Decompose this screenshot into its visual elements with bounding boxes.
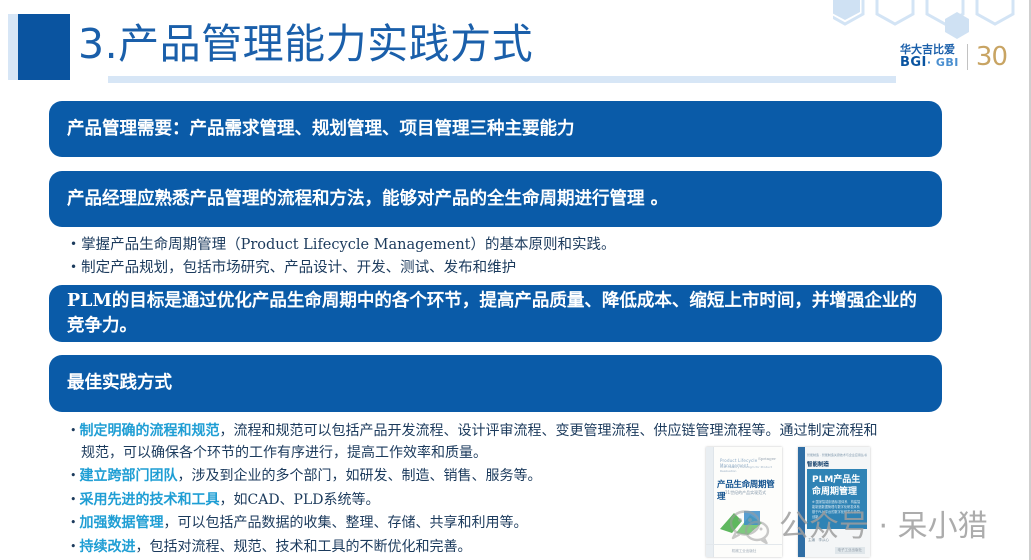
book-arrow-graphic-icon (718, 507, 770, 535)
callout-box-plm-goal: PLM的目标是通过优化产品生命周期中的各个环节，提高产品质量、降低成本、缩短上市… (49, 285, 942, 342)
brand-gbi: · GBI (927, 56, 959, 69)
book-publisher: 机械工业出版社 (732, 549, 757, 554)
callout-box-pm-process: 产品经理应熟悉产品管理的流程和方法，能够对产品的全生命周期进行管理 。 (49, 171, 942, 227)
callout-box-best-practice: 最佳实践方式 (49, 355, 942, 412)
list-item-lead: 持续改进 (80, 539, 136, 555)
list-item-lead: 加强数据管理 (80, 515, 164, 531)
list-item: 制定产品规划，包括市场研究、产品设计、开发、测试、发布和维护 (70, 256, 770, 279)
callout-box-text: 产品经理应熟悉产品管理的流程和方法，能够对产品的全生命周期进行管理 。 (67, 186, 668, 213)
book-cover-plm-cn: Springer Product Lifecycle Management 21… (706, 447, 782, 557)
list-item-lead: 建立跨部门团队 (80, 468, 178, 484)
book-blurb: ※ 国家智能制造标准体系 构建智能制造数据管理与数字化研发体系 基于PLM平台的… (812, 500, 863, 520)
anniversary-badge: 30 (976, 44, 1007, 70)
list-item-lead: 制定明确的流程和规范 (80, 423, 220, 439)
book-cover-images: Springer Product Lifecycle Management 21… (706, 447, 891, 560)
list-item: 掌握产品生命周期管理（Product Lifecycle Management）… (70, 233, 770, 256)
book-subtitle: 21世纪的产品实现范式 (725, 490, 766, 496)
slide-canvas: 3.产品管理能力实践方式 华大吉比爱 BGI· GBI 30 产品管理需要：产品… (0, 0, 1031, 560)
book-footer-band: 机械工业出版社 (706, 544, 782, 557)
callout-box-text: 最佳实践方式 (67, 370, 172, 397)
list-item-rest: ，可以包括产品数据的收集、整理、存储、共享和利用等。 (164, 515, 528, 531)
book-spine (706, 447, 714, 557)
book-title: PLM产品生命周期管理 (812, 474, 867, 498)
brand-english-name: BGI· GBI (900, 56, 959, 70)
book-series-badge: 智能制造 (807, 460, 829, 468)
callout-box-capabilities: 产品管理需要：产品需求管理、规划管理、项目管理三种主要能力 (49, 101, 942, 157)
book-english-subtitle: 21st Century Paradigm for Product Realis… (720, 465, 782, 473)
list-item-rest: ，如CAD、PLD系统等。 (220, 492, 380, 508)
brand-divider (967, 44, 968, 70)
title-accent-square (18, 14, 70, 80)
title-accent-strip (8, 14, 18, 80)
book-author: 主编 李从心 (808, 538, 829, 543)
list-item-lead: 采用先进的技术和工具 (80, 492, 220, 508)
brand-bgi: BGI (900, 55, 927, 70)
mid-bullet-list: 掌握产品生命周期管理（Product Lifecycle Management）… (70, 233, 770, 279)
list-item-rest: ，涉及到企业的多个部门，如研发、制造、销售、服务等。 (178, 468, 542, 484)
page-title: 3.产品管理能力实践方式 (78, 16, 533, 72)
list-item-rest: ，包括对流程、规范、技术和工具的不断优化和完善。 (136, 539, 472, 555)
book-publisher: 电子工业出版社 (835, 547, 866, 554)
book-title-panel: PLM产品生命周期管理 ※ 国家智能制造标准体系 构建智能制造数据管理与数字化研… (807, 469, 867, 529)
book-cover-plm-zh: 智能制造 · 智能制造关键技术与企业应用丛书 智能制造 PLM产品生命周期管理 … (798, 447, 870, 557)
brand-logo-text: 华大吉比爱 BGI· GBI (900, 44, 959, 70)
callout-box-text: 产品管理需要：产品需求管理、规划管理、项目管理三种主要能力 (67, 116, 575, 143)
callout-box-text: PLM的目标是通过优化产品生命周期中的各个环节，提高产品质量、降低成本、缩短上市… (67, 289, 924, 339)
brand-logo: 华大吉比爱 BGI· GBI 30 (900, 40, 1007, 74)
book-spine (798, 447, 805, 557)
book-series-header: 智能制造 · 智能制造关键技术与企业应用丛书 (807, 453, 867, 457)
title-underline (108, 76, 896, 83)
